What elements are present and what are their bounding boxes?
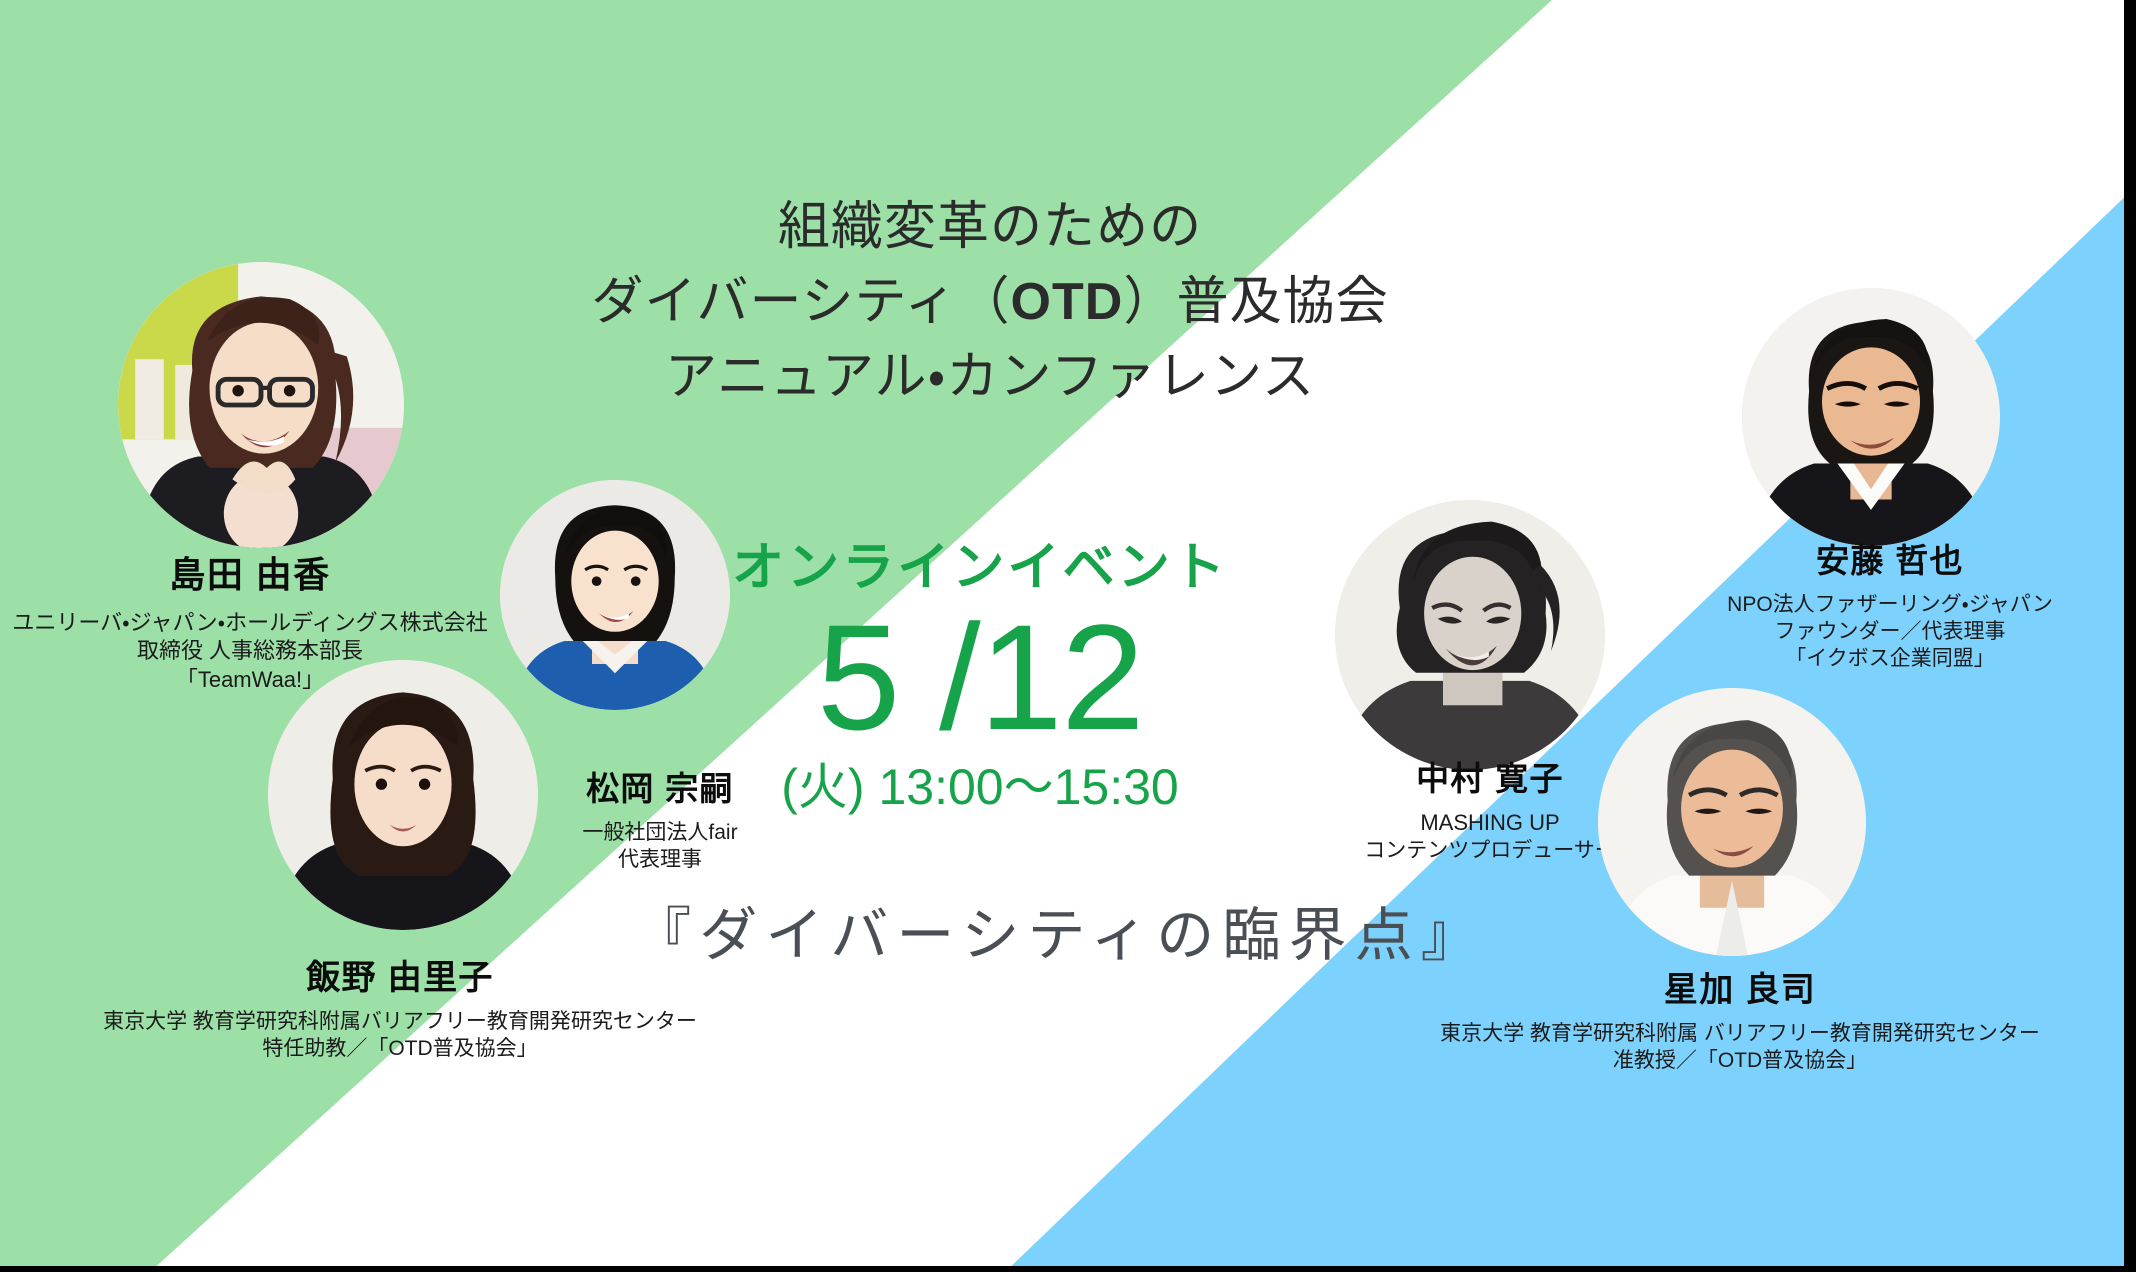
- portrait-shimada-yuka: [118, 262, 404, 548]
- speaker-role-line: 代表理事: [500, 846, 820, 873]
- title-line-1: 組織変革のための: [430, 190, 1550, 265]
- event-tagline: 『ダイバーシティの臨界点』: [560, 888, 1560, 972]
- caption-iino-yuriko: 飯野 由里子 東京大学 教育学研究科附属バリアフリー教育開発研究センター 特任助…: [20, 956, 780, 1063]
- speaker-role-line: NPO法人ファザーリング・ジャパン: [1660, 591, 2120, 618]
- online-event-label: オンラインイベント: [600, 540, 1360, 597]
- portrait-nakamura-hiroko: [1335, 500, 1605, 770]
- speaker-role-line: 東京大学 教育学研究科附属 バリアフリー教育開発研究センター: [1350, 1020, 2130, 1047]
- event-date: 5 /12: [600, 601, 1360, 754]
- portrait-image-shimada: [118, 262, 404, 548]
- portrait-image-iino: [268, 660, 538, 930]
- title-line-2-pre: ダイバーシティ（: [591, 273, 1010, 331]
- bottom-border: [0, 1266, 2136, 1272]
- portrait-ando-tetsuya: [1742, 288, 2000, 546]
- speaker-role-line: 特任助教／「OTD普及協会」: [20, 1035, 780, 1062]
- portrait-hoshika-ryoji: [1598, 688, 1866, 956]
- speaker-role-line: 准教授／「OTD普及協会」: [1350, 1047, 2130, 1074]
- speaker-name: 星加 良司: [1350, 968, 2130, 1012]
- right-border: [2124, 0, 2136, 1272]
- portrait-image-ando: [1742, 288, 2000, 546]
- portrait-iino-yuriko: [268, 660, 538, 930]
- speaker-role-line: 東京大学 教育学研究科附属バリアフリー教育開発研究センター: [20, 1008, 780, 1035]
- event-time: (火) 13:00〜15:30: [600, 760, 1360, 815]
- page-title: 組織変革のための ダイバーシティ（OTD）普及協会 アニュアル・カンファレンス: [430, 190, 1550, 415]
- speaker-role-line: 取締役 人事総務本部長: [0, 637, 540, 666]
- speaker-role-line: ファウンダー／代表理事: [1660, 618, 2120, 645]
- caption-ando-tetsuya: 安藤 哲也 NPO法人ファザーリング・ジャパン ファウンダー／代表理事 「イクボ…: [1660, 540, 2120, 673]
- speaker-name: 島田 由香: [0, 552, 540, 599]
- caption-hoshika-ryoji: 星加 良司 東京大学 教育学研究科附属 バリアフリー教育開発研究センター 准教授…: [1350, 968, 2130, 1075]
- speaker-role-line: 「イクボス企業同盟」: [1660, 645, 2120, 672]
- title-line-2-post: ）普及協会: [1123, 273, 1388, 331]
- title-line-3: アニュアル・カンファレンス: [430, 340, 1550, 415]
- portrait-image-nakamura: [1335, 500, 1605, 770]
- event-details: オンラインイベント 5 /12 (火) 13:00〜15:30: [600, 540, 1360, 815]
- event-poster: 島田 由香 ユニリーバ・ジャパン・ホールディングス株式会社 取締役 人事総務本部…: [0, 0, 2136, 1272]
- title-line-2: ダイバーシティ（OTD）普及協会: [430, 265, 1550, 340]
- speaker-name: 安藤 哲也: [1660, 540, 2120, 583]
- speaker-role-line: 一般社団法人fair: [500, 819, 820, 846]
- portrait-image-hoshika: [1598, 688, 1866, 956]
- speaker-role-line: ユニリーバ・ジャパン・ホールディングス株式会社: [0, 609, 540, 638]
- title-otd-abbr: OTD: [1011, 273, 1124, 331]
